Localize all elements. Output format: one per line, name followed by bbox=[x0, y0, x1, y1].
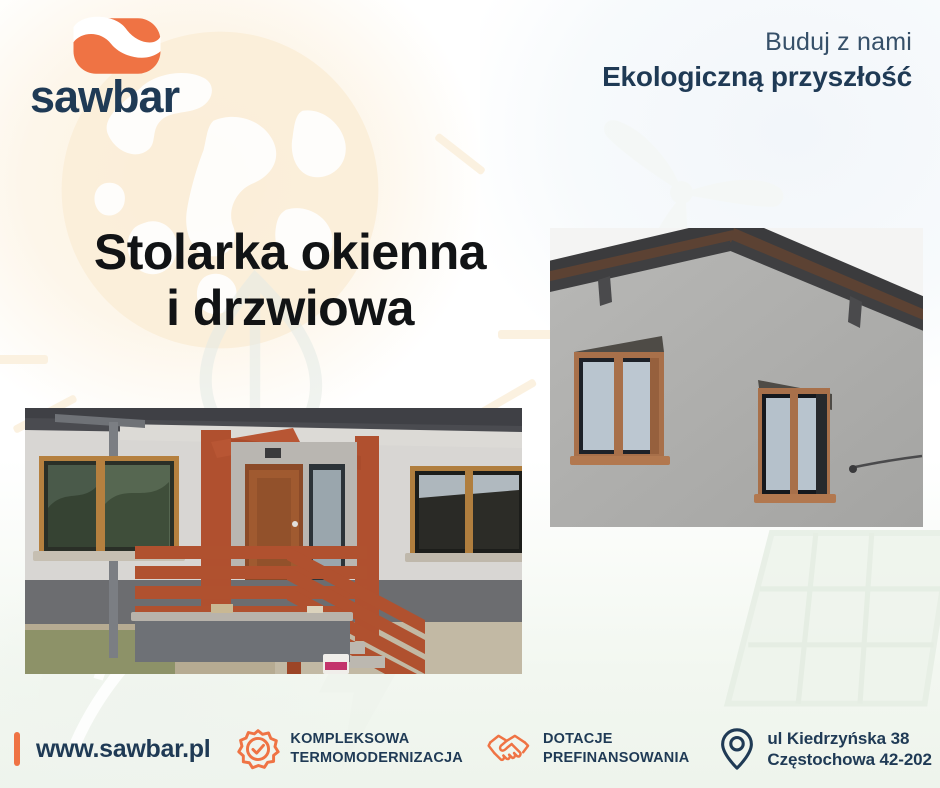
brand-logo[interactable]: sawbar bbox=[30, 16, 260, 116]
footer-feature-line-2: PREFINANSOWANIA bbox=[543, 749, 689, 768]
location-pin-icon bbox=[717, 726, 757, 772]
tagline: Buduj z nami Ekologiczną przyszłość bbox=[602, 28, 912, 93]
footer-address-line-1: ul Kiedrzyńska 38 bbox=[767, 728, 932, 749]
brand-wordmark: sawbar bbox=[30, 74, 179, 119]
footer-feature-line-1: DOTACJE bbox=[543, 730, 689, 749]
sun-ray bbox=[434, 132, 486, 175]
footer-feature-text: KOMPLEKSOWA TERMOMODERNIZACJA bbox=[290, 730, 463, 767]
footer-accent-bar bbox=[14, 732, 20, 766]
footer-feature-termomodernizacja: KOMPLEKSOWA TERMOMODERNIZACJA bbox=[236, 727, 463, 771]
footer-address-line-2: Częstochowa 42-202 bbox=[767, 749, 932, 770]
gear-check-icon bbox=[236, 727, 280, 771]
footer-bar: www.sawbar.pl KOMPLEKSOWA TERMOMODERNIZA… bbox=[0, 710, 940, 788]
headline-line-2: i drzwiowa bbox=[55, 280, 525, 336]
photo-gable-illustration bbox=[550, 228, 923, 527]
tagline-line-1: Buduj z nami bbox=[602, 28, 912, 58]
poster-canvas: sawbar Buduj z nami Ekologiczną przyszło… bbox=[0, 0, 940, 788]
photo-porch-illustration bbox=[25, 408, 522, 674]
headline-line-1: Stolarka okienna bbox=[55, 224, 525, 280]
footer-address: ul Kiedrzyńska 38 Częstochowa 42-202 bbox=[717, 726, 932, 772]
tagline-line-2: Ekologiczną przyszłość bbox=[602, 60, 912, 93]
photo-house-porch-entrance bbox=[25, 408, 522, 674]
footer-feature-dotacje: DOTACJE PREFINANSOWANIA bbox=[487, 729, 689, 769]
photo-house-gable-windows bbox=[550, 228, 923, 527]
handshake-icon bbox=[487, 729, 533, 769]
sawbar-s-logo-icon bbox=[72, 16, 162, 76]
sun-ray bbox=[0, 355, 48, 364]
footer-feature-line-2: TERMOMODERNIZACJA bbox=[290, 749, 463, 768]
footer-website-link[interactable]: www.sawbar.pl bbox=[36, 735, 210, 764]
page-title: Stolarka okienna i drzwiowa bbox=[55, 224, 525, 336]
footer-feature-text: DOTACJE PREFINANSOWANIA bbox=[543, 730, 689, 767]
footer-feature-line-1: KOMPLEKSOWA bbox=[290, 730, 463, 749]
footer-address-text: ul Kiedrzyńska 38 Częstochowa 42-202 bbox=[767, 728, 932, 771]
